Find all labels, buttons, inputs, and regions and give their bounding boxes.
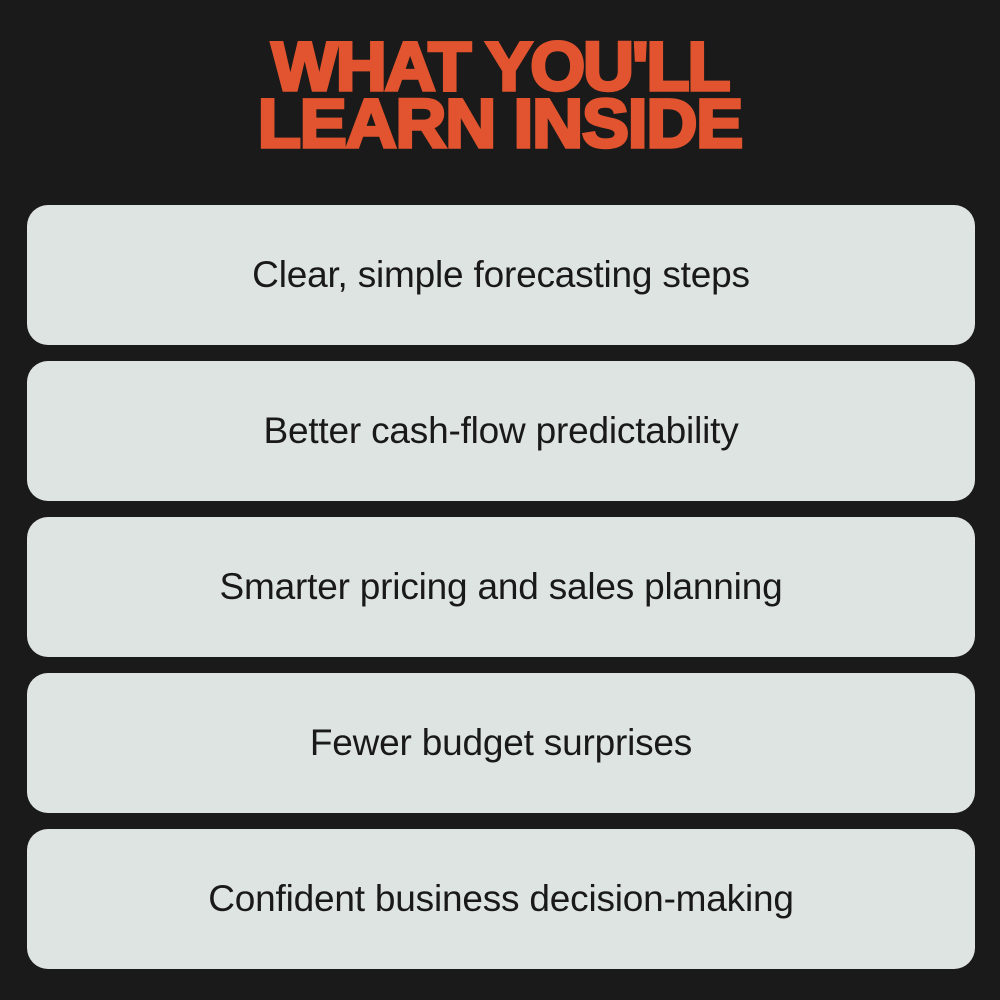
list-item: Better cash-flow predictability	[27, 361, 975, 501]
list-item: Clear, simple forecasting steps	[27, 205, 975, 345]
poster-root: What You'll Learn Inside Clear, simple f…	[0, 0, 1000, 1000]
benefit-label-3: Smarter pricing and sales planning	[220, 566, 783, 609]
benefit-label-1: Clear, simple forecasting steps	[252, 254, 750, 297]
list-item: Confident business decision-making	[27, 829, 975, 969]
list-item: Smarter pricing and sales planning	[27, 517, 975, 657]
page-title: What You'll Learn Inside	[0, 0, 1000, 152]
list-item: Fewer budget surprises	[27, 673, 975, 813]
benefits-list: Clear, simple forecasting steps Better c…	[27, 205, 975, 969]
benefit-label-5: Confident business decision-making	[208, 878, 794, 921]
benefit-label-4: Fewer budget surprises	[310, 722, 692, 765]
page-title-line-2: Learn Inside	[0, 95, 1000, 152]
benefit-label-2: Better cash-flow predictability	[264, 410, 739, 453]
